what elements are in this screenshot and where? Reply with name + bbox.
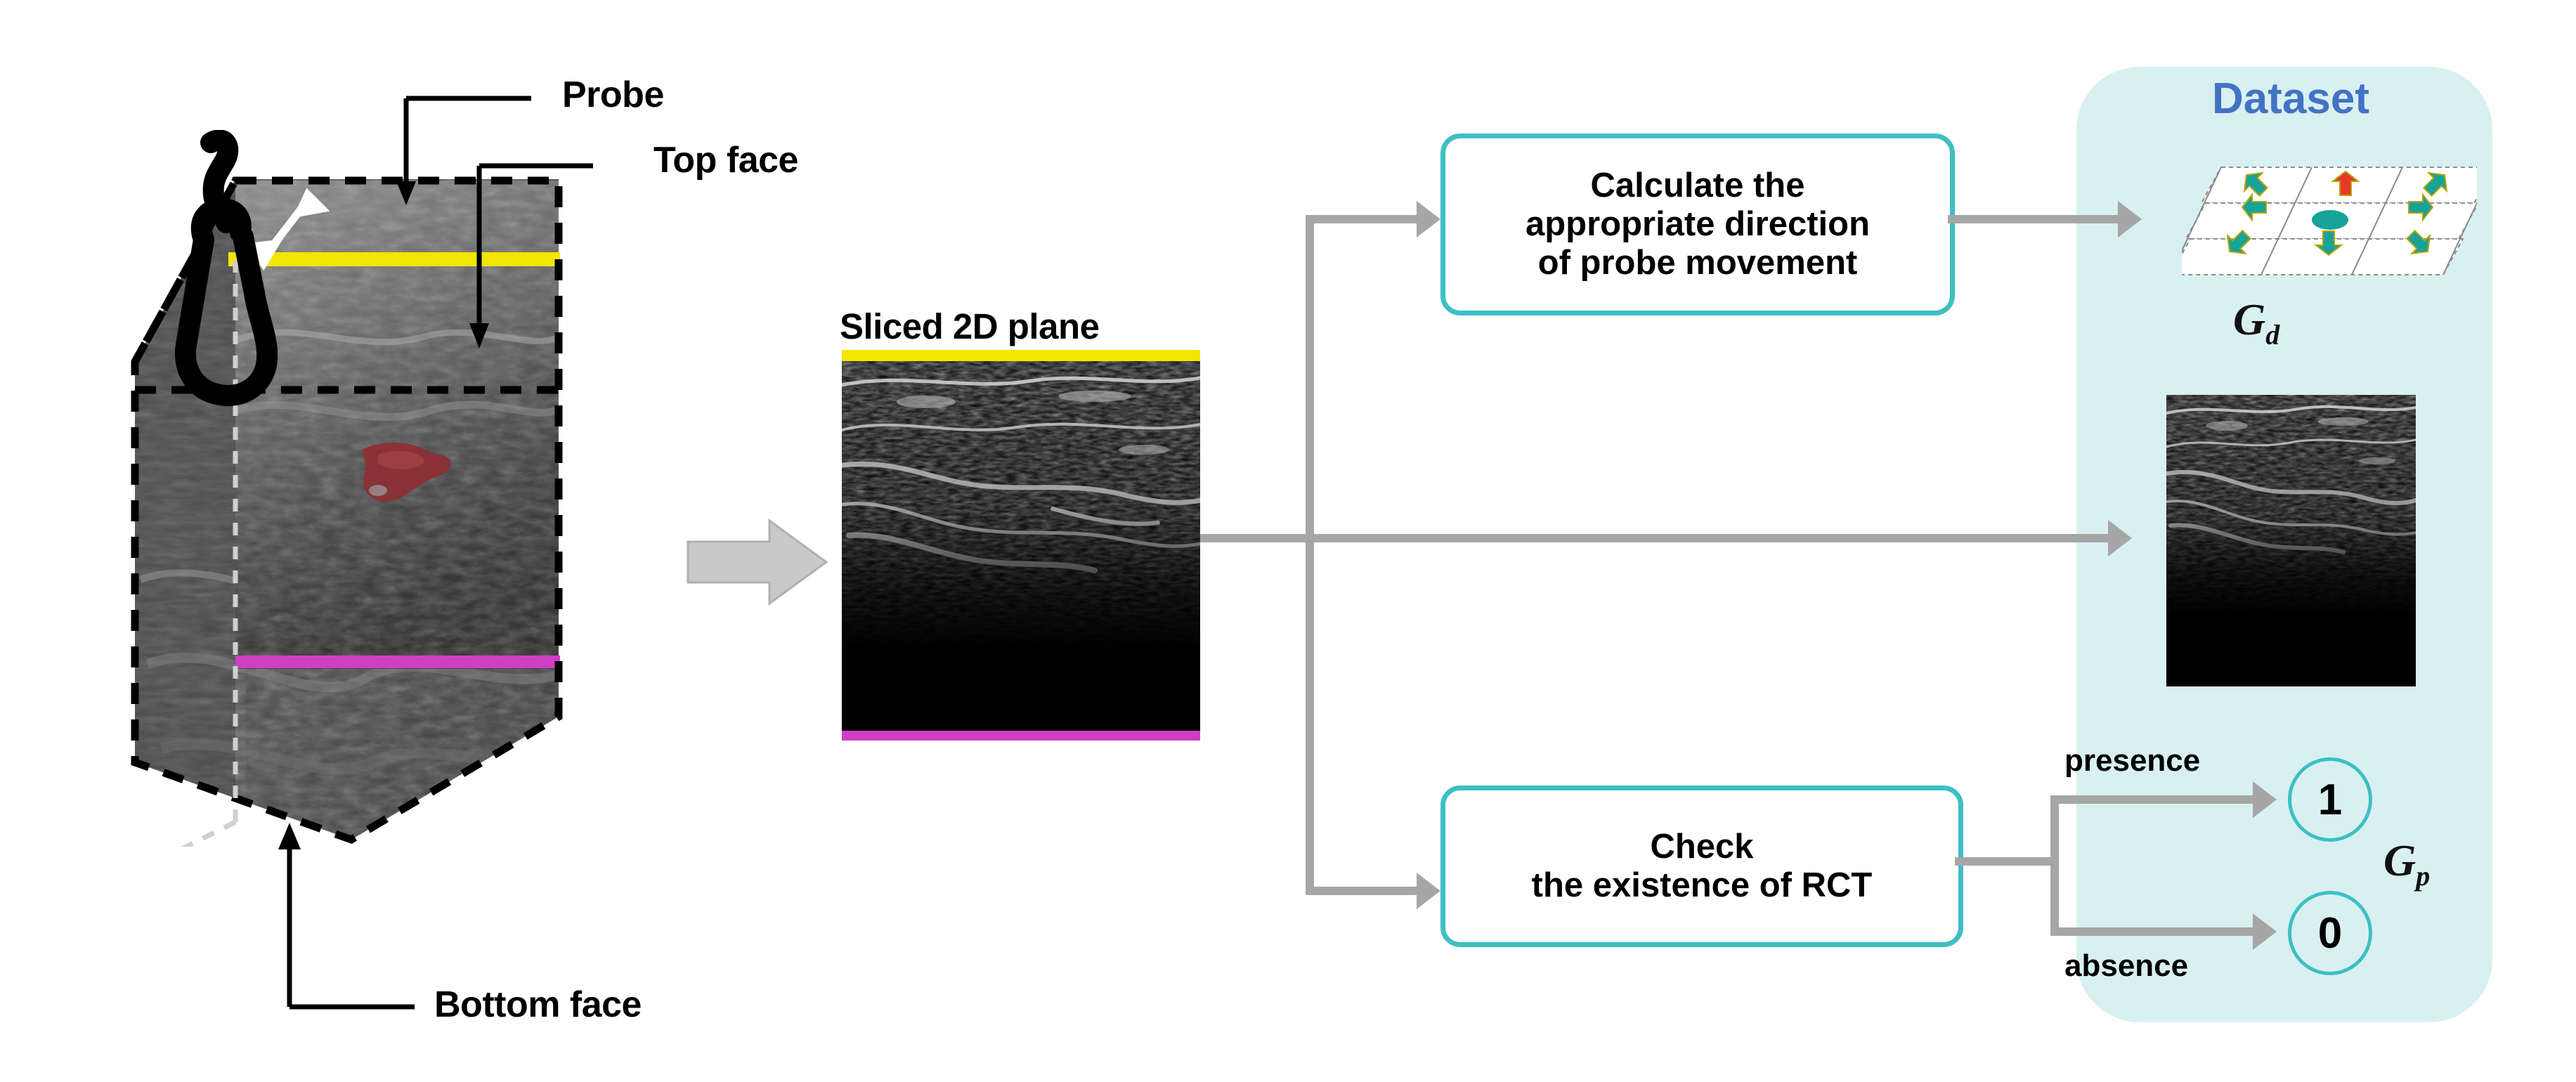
connector-absence (2050, 927, 2260, 936)
connector-direction-to-grid (1948, 215, 2122, 223)
gp-label: Gp (2383, 835, 2430, 892)
connector-arrowhead-presence (2253, 781, 2277, 818)
gd-label: Gd (2233, 294, 2279, 351)
bottom-face-label: Bottom face (434, 984, 642, 1026)
value-circle-absence: 0 (2288, 891, 2372, 975)
connector-rct-out (1955, 857, 2050, 866)
connector-vertical-split (1306, 219, 1314, 895)
absence-label: absence (2064, 949, 2188, 984)
connector-trunk (1200, 534, 1306, 542)
presence-label: presence (2064, 743, 2200, 778)
sliced-plane-title: Sliced 2D plane (840, 306, 1099, 347)
connector-arrowhead-rct (1417, 873, 1440, 909)
connector-to-rct-box (1306, 887, 1425, 895)
gp-label-main: G (2383, 835, 2416, 885)
connector-arrowhead-bscan (2108, 520, 2132, 556)
connector-arrowhead-direction (1417, 201, 1440, 237)
process-line: the existence of RCT (1532, 866, 1873, 905)
value-circle-presence: 1 (2288, 757, 2372, 842)
process-line: Check (1532, 828, 1873, 866)
process-box-direction[interactable]: Calculate the appropriate direction of p… (1440, 133, 1955, 315)
gp-label-sub: p (2416, 860, 2430, 892)
process-line: appropriate direction (1526, 205, 1870, 244)
direction-grid-gd (2182, 160, 2477, 290)
probe-label: Probe (562, 74, 664, 116)
dataset-title: Dataset (2185, 74, 2396, 124)
value-absence: 0 (2318, 908, 2342, 958)
connector-to-bscan (1306, 534, 2112, 542)
connector-branch-vertical (2050, 795, 2059, 936)
process-line: of probe movement (1526, 244, 1870, 282)
connector-arrowhead-absence (2253, 913, 2277, 950)
sliced-plane-image (842, 360, 1200, 732)
dataset-bscan-image (2166, 395, 2416, 686)
center-dot (2312, 210, 2348, 230)
gd-label-main: G (2233, 294, 2265, 344)
process-box-rct[interactable]: Check the existence of RCT (1440, 786, 1963, 947)
connector-presence (2050, 795, 2260, 804)
gd-label-sub: d (2265, 319, 2279, 351)
sliced-bottom-band (842, 731, 1200, 741)
connector-arrowhead-grid (2118, 201, 2142, 237)
top-face-label: Top face (653, 139, 798, 181)
value-presence: 1 (2318, 775, 2342, 825)
process-line: Calculate the (1526, 167, 1870, 205)
connector-to-direction-box (1306, 215, 1425, 223)
top-face-callout-line (469, 153, 652, 385)
sliced-top-band (842, 350, 1200, 361)
block-arrow-right-icon (685, 516, 829, 608)
bottom-face-band (235, 656, 560, 668)
